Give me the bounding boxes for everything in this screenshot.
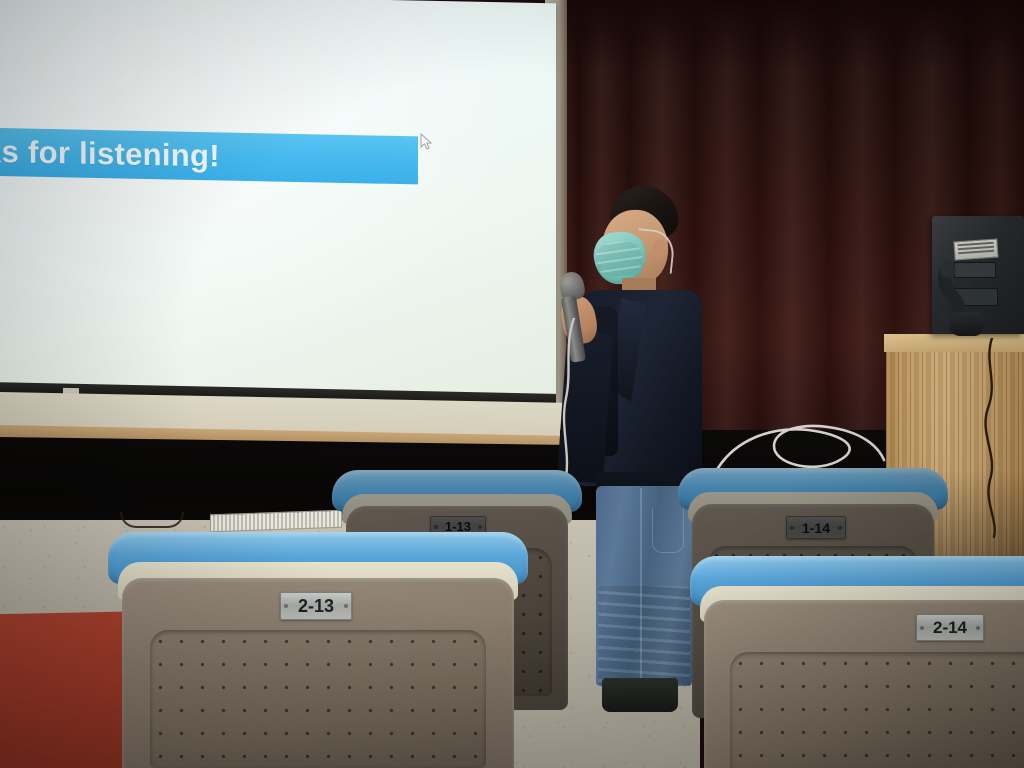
seat-number-plate: 2-13 (280, 592, 352, 620)
plate-screw-right (344, 604, 348, 608)
seat-2-13[interactable]: 2-13 (108, 532, 528, 768)
plate-screw-left (790, 526, 794, 530)
plate-screw-right (838, 526, 842, 530)
seat-number-label: 1-14 (802, 521, 830, 535)
auditorium-photo: ks for listening! (0, 0, 1024, 768)
plate-screw-right (478, 525, 482, 529)
plate-screw-left (434, 525, 438, 529)
plate-screw-right (976, 626, 980, 630)
screen-glow (0, 0, 556, 395)
seat-perforation (150, 630, 486, 768)
seat-2-14[interactable]: 2-14 (690, 556, 1024, 768)
seat-number-label: 2-13 (298, 597, 334, 615)
seat-back-inset (150, 630, 486, 768)
projection-screen: ks for listening! (0, 0, 556, 384)
presenter-shoe (602, 678, 678, 712)
curtain-top-shadow (560, 0, 1024, 70)
seat-number-label: 2-14 (933, 619, 967, 636)
seat-number-plate: 2-14 (916, 614, 984, 641)
slide-banner-text: ks for listening! (0, 134, 220, 175)
jeans-seam (640, 488, 642, 678)
seat-number-plate: 1-14 (786, 516, 846, 539)
monitor-base (950, 312, 984, 336)
plate-screw-left (284, 604, 288, 608)
seat-back-inset (730, 652, 1024, 768)
plate-screw-left (920, 626, 924, 630)
floor-cable (120, 512, 184, 528)
podium-power-cable (968, 338, 1014, 538)
mouse-pointer-icon (420, 133, 434, 151)
seat-perforation (730, 652, 1024, 768)
jeans-folds (598, 586, 690, 686)
slide-banner: ks for listening! (0, 128, 418, 185)
